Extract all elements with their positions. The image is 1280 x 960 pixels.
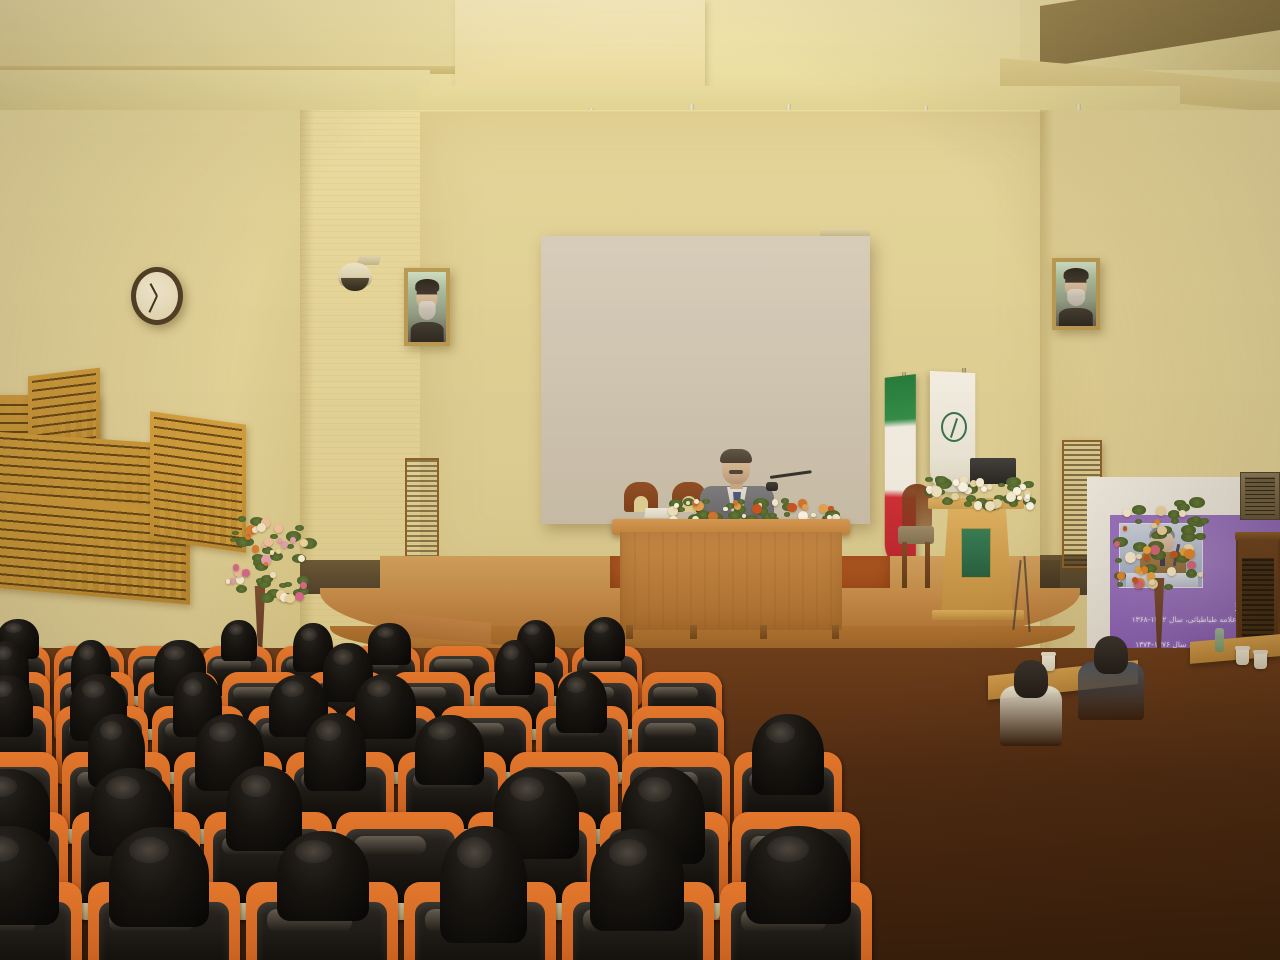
- flower-bloom: [733, 500, 738, 505]
- foliage: [998, 483, 1004, 487]
- speaker-hair: [720, 449, 752, 463]
- flower-bloom: [1017, 496, 1022, 501]
- flower-bloom: [953, 479, 960, 486]
- foliage: [1164, 584, 1173, 590]
- flower-bloom: [252, 545, 259, 552]
- foliage: [925, 477, 932, 482]
- flower-bloom: [1025, 494, 1029, 498]
- foliage: [1181, 525, 1195, 535]
- audience-member: [0, 675, 33, 737]
- audience-member-head: [1014, 660, 1048, 698]
- clock-hour-hand: [150, 283, 158, 296]
- wall-clock: [131, 267, 183, 325]
- table-leg: [626, 625, 633, 639]
- speaker-mustache: [729, 470, 743, 474]
- bulkhead-face-left: [0, 70, 430, 114]
- audience-member: [590, 829, 685, 931]
- flower-bloom: [264, 538, 272, 546]
- flower-bloom: [674, 503, 679, 508]
- flower-bloom: [236, 576, 243, 583]
- flower-bloom: [1123, 526, 1127, 530]
- flower-bloom: [951, 493, 958, 500]
- flower-bloom: [270, 572, 276, 578]
- flower-bloom: [1187, 561, 1196, 570]
- flower-bloom: [1117, 572, 1125, 580]
- audience-member: [746, 826, 851, 924]
- audience-member-head: [1094, 636, 1128, 674]
- audience-member: [440, 826, 527, 943]
- head-table: [620, 532, 842, 630]
- loudspeaker: [1240, 472, 1280, 520]
- foliage: [1191, 516, 1201, 523]
- foliage: [1132, 505, 1146, 515]
- flower-bloom: [1114, 541, 1120, 547]
- framed-portrait-right: [1052, 258, 1100, 330]
- foliage: [236, 585, 247, 593]
- flower-bloom: [285, 594, 294, 603]
- flower-bloom: [230, 578, 235, 583]
- clock-minute-hand: [148, 296, 157, 313]
- flower-bloom: [974, 501, 982, 509]
- table-leg: [832, 625, 839, 639]
- flower-bloom: [802, 504, 808, 510]
- audience-member: [109, 827, 209, 927]
- flower-bloom: [694, 499, 700, 505]
- flower-bloom: [1020, 484, 1026, 490]
- flower-bloom: [295, 592, 304, 601]
- foliage: [1117, 582, 1124, 587]
- university-emblem: [941, 412, 967, 442]
- flower-bloom: [958, 482, 968, 492]
- foliage: [1189, 497, 1204, 508]
- foliage: [260, 593, 274, 603]
- flower-bloom: [242, 569, 250, 577]
- flower-bloom: [931, 486, 942, 497]
- flower-bloom: [1167, 567, 1176, 576]
- louvered-wall-vent-left: [405, 458, 439, 564]
- floral-arrangement-podium: [920, 476, 1032, 504]
- flower-bloom: [1123, 509, 1131, 517]
- foliage: [1187, 569, 1196, 575]
- projection-screen: آقای دکتر عباس عادلی رتبه علمی: دانشیار …: [541, 236, 870, 524]
- foliage: [295, 525, 303, 531]
- auditorium-photo: آقای دکتر عباس عادلی رتبه علمی: دانشیار …: [0, 0, 1280, 960]
- flower-bloom: [772, 499, 778, 505]
- flower-bloom: [1144, 555, 1150, 561]
- floral-arrangement-right: [1112, 496, 1204, 592]
- ceiling-soffit-left: [0, 0, 460, 72]
- audience-member: [368, 623, 410, 665]
- flower-bloom: [985, 501, 995, 511]
- microphone-base: [766, 482, 778, 491]
- flower-bloom: [1149, 580, 1154, 585]
- foliage: [232, 531, 238, 535]
- flag-emblem: [891, 432, 911, 460]
- flower-bloom: [1143, 546, 1151, 554]
- foliage: [279, 583, 286, 588]
- foliage: [287, 544, 294, 549]
- flower-bloom: [1156, 506, 1166, 516]
- flower-bloom: [811, 513, 815, 517]
- water-bottle: [1215, 628, 1224, 652]
- audience-member: [495, 640, 535, 696]
- flower-bloom: [274, 524, 283, 533]
- foliage: [1135, 519, 1142, 524]
- flower-bloom: [290, 537, 296, 543]
- flower-bloom: [981, 486, 987, 492]
- podium-base: [932, 610, 1024, 620]
- foliage: [1171, 518, 1179, 523]
- flower-bloom: [226, 579, 231, 584]
- flower-bloom: [276, 549, 281, 554]
- audience-member: [277, 831, 369, 922]
- audience-member: [0, 826, 59, 925]
- audience-member: [221, 620, 256, 661]
- foliage: [238, 516, 246, 521]
- flower-bloom: [245, 534, 251, 540]
- clock-face: [136, 272, 178, 320]
- flower-bloom: [1179, 510, 1186, 517]
- flower-bloom: [1170, 551, 1177, 558]
- foliage: [678, 507, 685, 512]
- audience-member: [556, 671, 607, 733]
- paper-cup: [1236, 648, 1249, 665]
- paper-cup: [1254, 652, 1267, 669]
- flower-bloom: [1136, 554, 1141, 559]
- audience-member: [752, 714, 825, 796]
- flower-bloom: [1184, 549, 1194, 559]
- podium-name-plate: [961, 528, 991, 578]
- audience-member: [584, 617, 626, 661]
- framed-portrait-left: [404, 268, 450, 346]
- flower-bloom: [1139, 571, 1143, 575]
- flower-bloom: [1151, 523, 1157, 529]
- flower-bloom: [257, 523, 266, 532]
- audience-member: [304, 713, 367, 792]
- flower-bloom: [1125, 552, 1136, 563]
- foliage: [784, 512, 791, 517]
- flower-bloom: [723, 507, 727, 511]
- flower-bloom: [686, 501, 690, 505]
- flower-bloom: [987, 484, 992, 489]
- table-leg: [760, 625, 767, 639]
- floral-arrangement-left: [222, 508, 306, 600]
- audience-member: [415, 715, 484, 786]
- flower-bloom: [927, 489, 932, 494]
- ceiling-soffit-center: [455, 0, 705, 92]
- flower-bloom: [1157, 526, 1166, 535]
- flower-bloom: [787, 503, 796, 512]
- flower-bloom: [233, 564, 240, 571]
- table-leg: [690, 625, 697, 639]
- foliage: [1115, 558, 1122, 563]
- flower-bloom: [1198, 572, 1203, 577]
